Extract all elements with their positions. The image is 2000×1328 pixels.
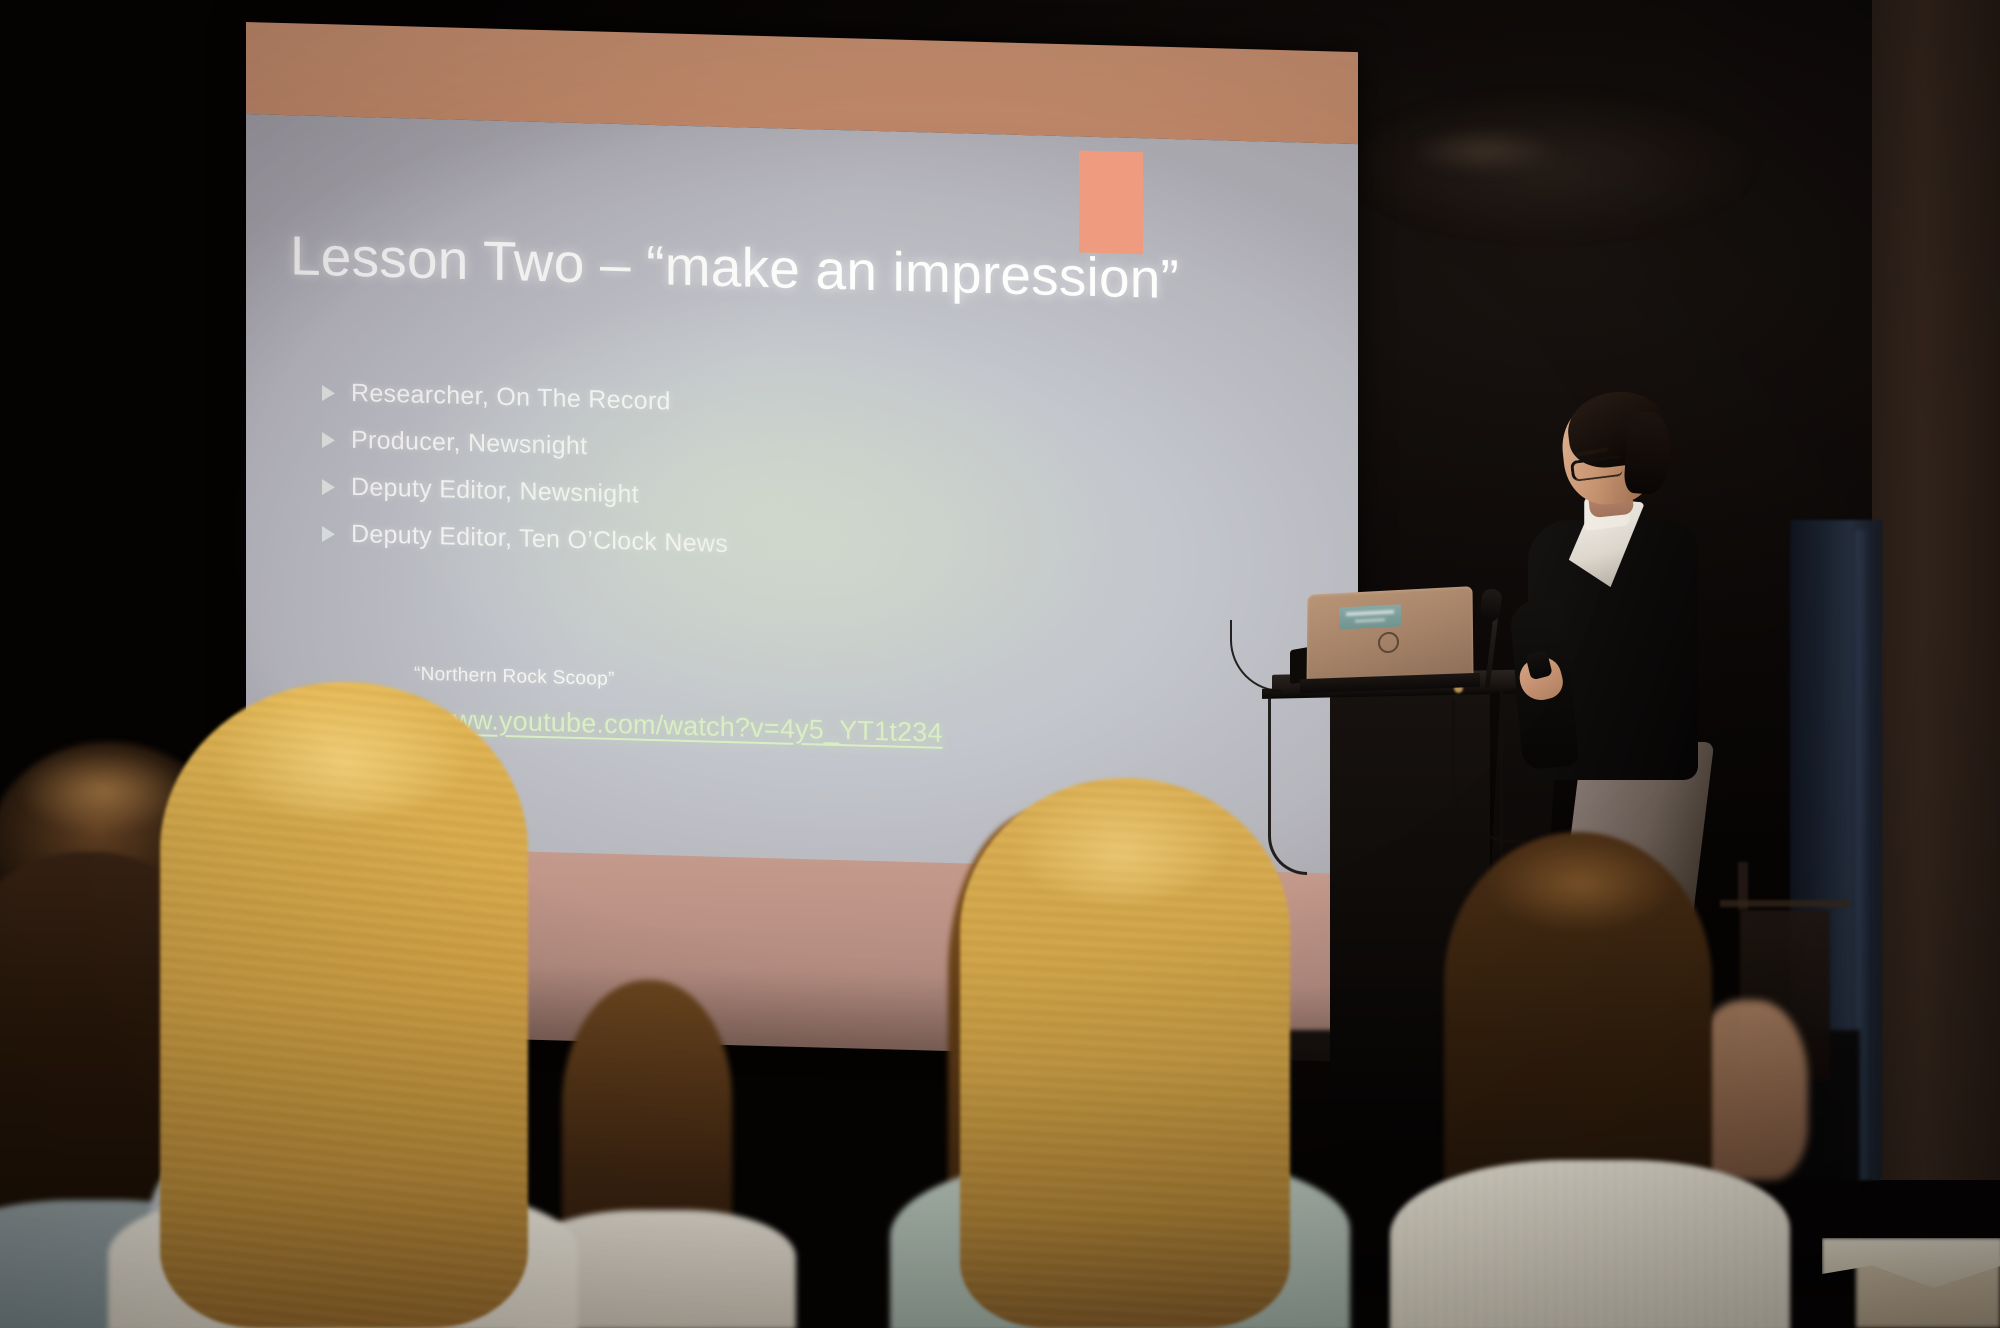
- triangle-bullet-icon: [322, 526, 335, 542]
- slide-bullet-list: Researcher, On The Record Producer, News…: [322, 378, 1082, 587]
- slide-title: Lesson Two – “make an impression”: [290, 223, 1179, 311]
- audience-member-d-highlight: [214, 684, 470, 816]
- bullet-label: Deputy Editor, Ten O’Clock News: [351, 520, 728, 559]
- bullet-label: Researcher, On The Record: [351, 379, 671, 417]
- ceiling-light-icon: [1410, 130, 1560, 172]
- laptop-sticker: [1339, 604, 1401, 629]
- slide-sub-quote: “Northern Rock Scoop”: [414, 664, 615, 691]
- right-wall: [1872, 0, 2000, 1180]
- list-item: Deputy Editor, Ten O’Clock News: [322, 519, 1082, 569]
- bullet-label: Deputy Editor, Newsnight: [351, 473, 639, 510]
- list-item: Producer, Newsnight: [322, 425, 1082, 475]
- audience-member-h-highlight: [1486, 836, 1676, 932]
- slide-accent-rectangle: [1079, 151, 1143, 255]
- triangle-bullet-icon: [322, 432, 335, 448]
- stage-equipment-rail: [1720, 900, 1850, 907]
- bullet-label: Producer, Newsnight: [351, 426, 587, 461]
- audience-member-h-shoulders: [1390, 1160, 1790, 1328]
- list-item: Deputy Editor, Newsnight: [322, 472, 1082, 522]
- ceiling-glow: [1340, 90, 1760, 240]
- photograph-canvas: Lesson Two – “make an impression” Resear…: [0, 0, 2000, 1328]
- cable: [1268, 692, 1307, 875]
- triangle-bullet-icon: [322, 385, 335, 401]
- triangle-bullet-icon: [322, 479, 335, 495]
- audience-member-g-highlight: [1010, 782, 1232, 900]
- list-item: Researcher, On The Record: [322, 378, 1082, 428]
